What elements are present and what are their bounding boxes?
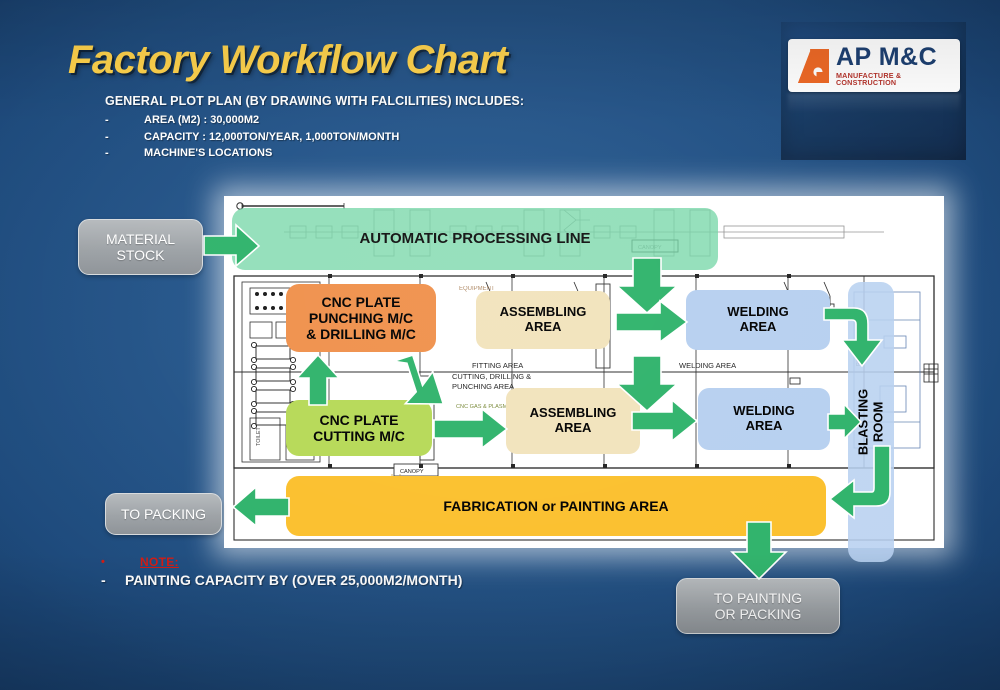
bullet-marker: - [105, 112, 144, 129]
factory-layout-panel: EQUIPMENT CUTTING, DRILLING & PUNCHING A… [224, 196, 944, 548]
arrow-fabrication-to-painting-packing [731, 522, 787, 580]
page-title: Factory Workflow Chart [68, 38, 507, 83]
svg-text:CUTTING, DRILLING &: CUTTING, DRILLING & [452, 372, 531, 381]
arrow-welding-top-to-blasting [824, 302, 890, 368]
bullet-text: MACHINE'S LOCATIONS [144, 145, 272, 162]
note-label: NOTE: [140, 555, 179, 569]
node-welding-area-bottom[interactable]: WELDING AREA [698, 388, 830, 450]
arrow-blasting-to-fabrication [828, 446, 900, 520]
node-to-painting-or-packing[interactable]: TO PAINTING OR PACKING [676, 578, 840, 634]
slide-canvas: Factory Workflow Chart GENERAL PLOT PLAN… [0, 0, 1000, 690]
node-welding-area-top[interactable]: WELDING AREA [686, 290, 830, 350]
node-assembling-area-top[interactable]: ASSEMBLING AREA [476, 291, 610, 349]
svg-text:TOILET: TOILET [256, 427, 262, 446]
logo-tagline: MANUFACTURE & CONSTRUCTION [836, 72, 960, 86]
ap-triangle-icon [796, 47, 832, 85]
svg-text:CANOPY: CANOPY [400, 469, 424, 475]
list-item: - AREA (M2) : 30,000M2 [105, 112, 399, 129]
note-dash: - [101, 572, 125, 588]
arrow-punching-to-assembling [394, 352, 460, 414]
arrow-cutting-to-punching [296, 354, 340, 406]
arrow-welding-to-blasting [828, 404, 862, 440]
note-text: PAINTING CAPACITY BY (OVER 25,000M2/MONT… [125, 572, 462, 588]
arrow-cutting-to-assembling [434, 409, 508, 449]
list-item: - CAPACITY : 12,000TON/YEAR, 1,000TON/MO… [105, 129, 399, 146]
note-bullet-icon: • [101, 556, 105, 568]
svg-text:FITTING AREA: FITTING AREA [472, 361, 523, 370]
node-material-stock[interactable]: MATERIAL STOCK [78, 219, 203, 275]
bullet-text: CAPACITY : 12,000TON/YEAR, 1,000TON/MONT… [144, 129, 399, 146]
node-cnc-plate-punching[interactable]: CNC PLATE PUNCHING M/C & DRILLING M/C [286, 284, 436, 352]
arrow-assembling-top-to-welding-top [616, 301, 688, 343]
bullet-marker: - [105, 145, 144, 162]
subheading: GENERAL PLOT PLAN (BY DRAWING WITH FALCI… [105, 94, 524, 108]
arrow-fabrication-to-packing [232, 487, 290, 527]
logo-name: AP M&C [836, 45, 960, 70]
bullet-marker: - [105, 129, 144, 146]
logo-reflection [788, 93, 960, 113]
svg-text:WELDING AREA: WELDING AREA [679, 361, 736, 370]
bullet-text: AREA (M2) : 30,000M2 [144, 112, 259, 129]
arrow-assembling-bottom-to-welding-bottom [632, 400, 698, 442]
arrow-material-to-processing [204, 225, 260, 267]
header-bullet-list: - AREA (M2) : 30,000M2 - CAPACITY : 12,0… [105, 112, 399, 162]
logo-text: AP M&C MANUFACTURE & CONSTRUCTION [836, 45, 960, 86]
note-text-line: -PAINTING CAPACITY BY (OVER 25,000M2/MON… [101, 572, 462, 588]
company-logo: AP M&C MANUFACTURE & CONSTRUCTION [788, 39, 960, 92]
svg-text:PUNCHING AREA: PUNCHING AREA [452, 382, 514, 391]
node-to-packing[interactable]: TO PACKING [105, 493, 222, 535]
list-item: - MACHINE'S LOCATIONS [105, 145, 399, 162]
